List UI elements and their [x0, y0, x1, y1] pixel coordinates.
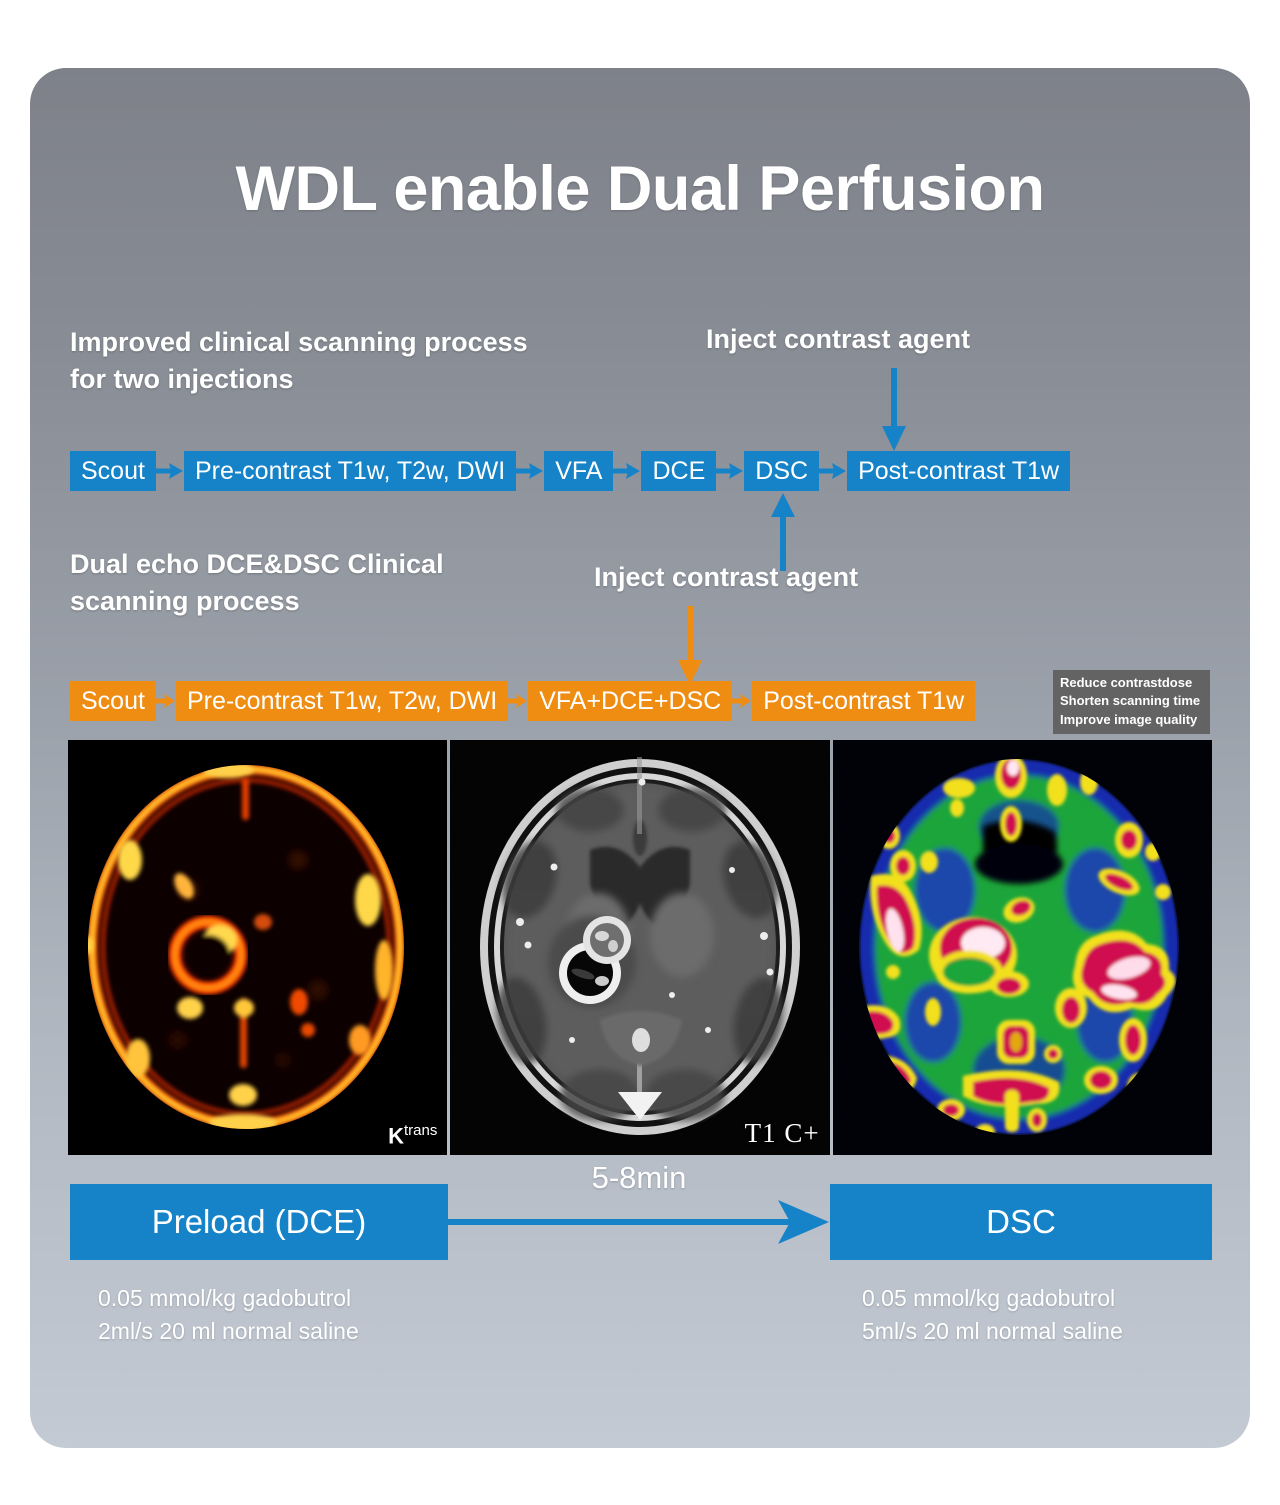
- page-title: WDL enable Dual Perfusion: [30, 153, 1250, 225]
- flow-arrow-icon: [156, 451, 184, 491]
- flow-arrow-icon: [716, 451, 744, 491]
- flow-node-postcontrast[interactable]: Post-contrast T1w: [847, 451, 1070, 491]
- flow-node-precontrast[interactable]: Pre-contrast T1w, T2w, DWI: [184, 451, 516, 491]
- ktrans-label-superscript: trans: [404, 1122, 437, 1139]
- protocol-arrow-icon: [448, 1184, 830, 1265]
- flow-arrow-icon: [613, 451, 641, 491]
- t1-postcontrast-image: [450, 740, 829, 1155]
- flow-row-two-injections: Scout Pre-contrast T1w, T2w, DWI VFA DCE: [70, 451, 1070, 491]
- flow-node-dce[interactable]: DCE: [641, 451, 716, 491]
- protocol-box-preload[interactable]: Preload (DCE): [70, 1184, 448, 1260]
- inject-arrow-vfa-icon: [677, 606, 703, 691]
- flow-node-vfa[interactable]: VFA: [544, 451, 613, 491]
- flow-node-scout-dual[interactable]: Scout: [70, 681, 156, 721]
- ktrans-label-main: K: [388, 1123, 404, 1148]
- flow-node-postcontrast-dual[interactable]: Post-contrast T1w: [752, 681, 975, 721]
- inject-contrast-label-vfa: Inject contrast agent: [594, 562, 858, 593]
- brain-image-strip: Ktrans: [68, 740, 1212, 1155]
- protocol-dose-left: 0.05 mmol/kg gadobutrol 2ml/s 20 ml norm…: [98, 1282, 359, 1349]
- ktrans-map-image: [68, 740, 447, 1155]
- t1-postcontrast-label: T1 C+: [745, 1118, 820, 1149]
- benefits-callout: Reduce contrastdose Shorten scanning tim…: [1053, 670, 1210, 734]
- t1-postcontrast-panel: T1 C+: [450, 740, 829, 1155]
- ktrans-map-panel: Ktrans: [68, 740, 447, 1155]
- flow-node-scout[interactable]: Scout: [70, 451, 156, 491]
- flow-arrow-icon: [156, 681, 176, 721]
- dsc-cbv-map-image: [833, 740, 1212, 1155]
- protocol-dose-right: 0.05 mmol/kg gadobutrol 5ml/s 20 ml norm…: [862, 1282, 1123, 1349]
- flow-node-vfa-dce-dsc[interactable]: VFA+DCE+DSC: [528, 681, 732, 721]
- flow-node-dsc[interactable]: DSC: [744, 451, 819, 491]
- ktrans-label: Ktrans: [388, 1122, 437, 1149]
- protocol-box-dsc[interactable]: DSC: [830, 1184, 1212, 1260]
- inject-contrast-label-dsc: Inject contrast agent: [706, 324, 970, 355]
- section-one-heading: Improved clinical scanning process for t…: [70, 324, 528, 399]
- poster-card: WDL enable Dual Perfusion Improved clini…: [30, 68, 1250, 1448]
- flow-arrow-icon: [732, 681, 752, 721]
- flow-arrow-icon: [819, 451, 847, 491]
- flow-arrow-icon: [516, 451, 544, 491]
- flow-node-precontrast-dual[interactable]: Pre-contrast T1w, T2w, DWI: [176, 681, 508, 721]
- inject-arrow-dsc-icon: [881, 368, 907, 457]
- flow-arrow-icon: [508, 681, 528, 721]
- dsc-cbv-map-panel: [833, 740, 1212, 1155]
- section-two-heading: Dual echo DCE&DSC Clinical scanning proc…: [70, 546, 444, 621]
- flow-row-dual-echo: Scout Pre-contrast T1w, T2w, DWI VFA+DCE…: [70, 681, 975, 721]
